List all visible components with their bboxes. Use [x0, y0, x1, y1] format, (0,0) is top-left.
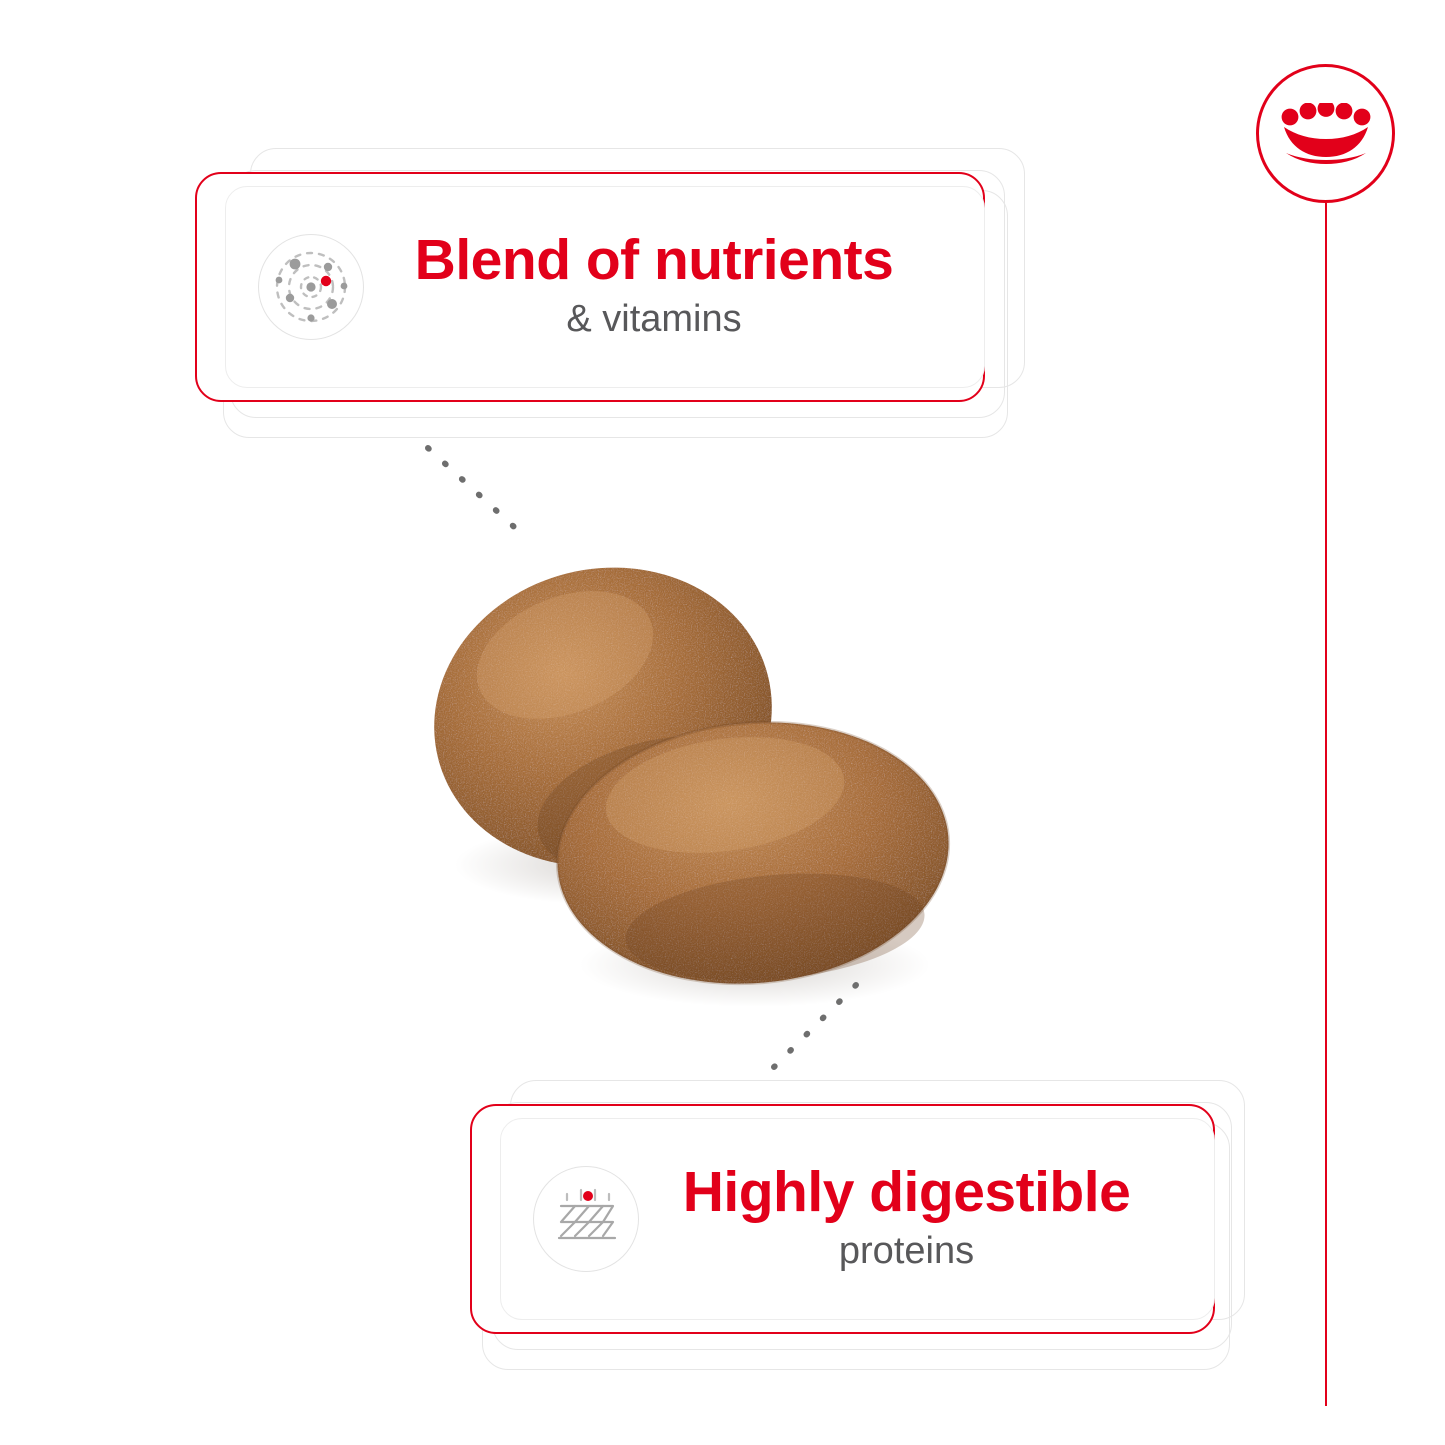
card-text-block: Highly digestible proteins: [639, 1163, 1214, 1276]
dotted-leader-bottom: [760, 975, 870, 1085]
brand-stem-line: [1325, 203, 1327, 1406]
poster-canvas: Blend of nutrients & vitamins: [0, 0, 1445, 1445]
feature-title: Highly digestible: [639, 1163, 1174, 1222]
feature-subtitle: & vitamins: [364, 296, 944, 344]
feature-title: Blend of nutrients: [364, 231, 944, 290]
feature-card-highly-digestible: Highly digestible proteins: [470, 1080, 1260, 1370]
protein-chain-icon: [533, 1166, 639, 1272]
feature-card-blend-of-nutrients: Blend of nutrients & vitamins: [195, 148, 1025, 438]
royal-canin-crown-logo: [1256, 64, 1395, 203]
card-text-block: Blend of nutrients & vitamins: [364, 231, 984, 344]
card-content: Highly digestible proteins: [500, 1118, 1215, 1320]
card-content: Blend of nutrients & vitamins: [225, 186, 985, 388]
feature-subtitle: proteins: [639, 1228, 1174, 1276]
dog-food-kibble-photo: [355, 495, 995, 1035]
nutrient-molecule-icon: [258, 234, 364, 340]
